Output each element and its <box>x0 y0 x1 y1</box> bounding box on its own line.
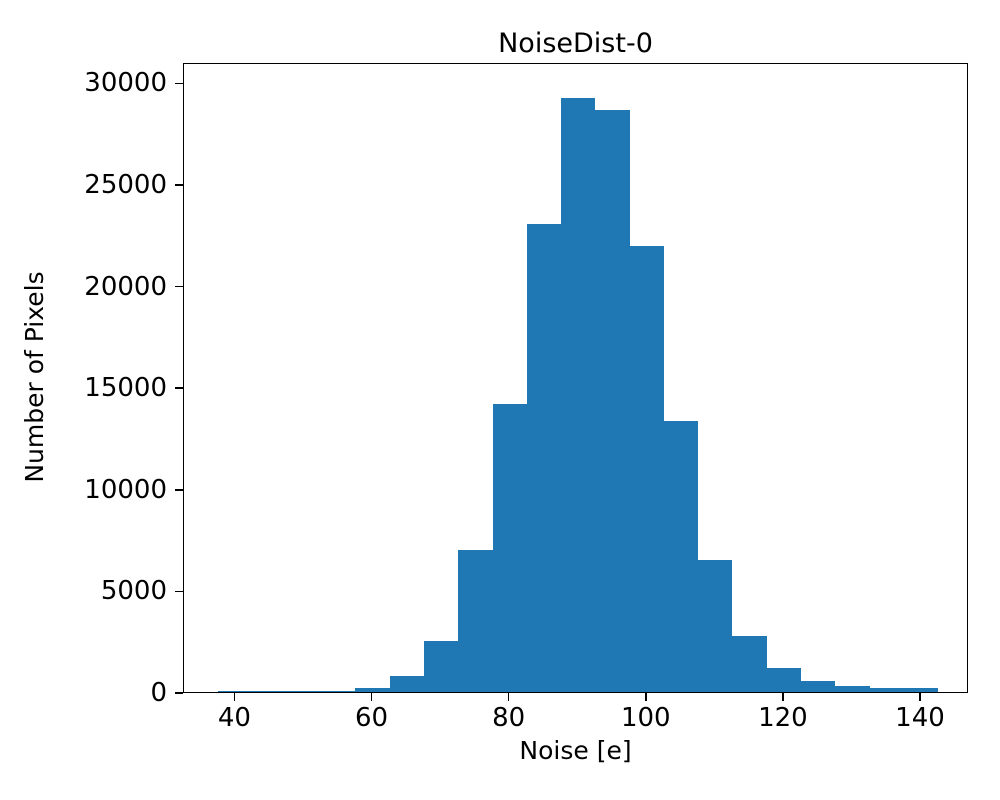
y-axis-label: Number of Pixels <box>21 212 49 542</box>
x-tick-label: 40 <box>218 705 251 731</box>
histogram-bar <box>458 550 492 692</box>
x-tick-label: 80 <box>492 705 525 731</box>
x-tick-mark <box>508 693 510 701</box>
histogram-bar <box>767 668 801 692</box>
y-tick-mark <box>175 692 183 694</box>
x-tick-mark <box>371 693 373 701</box>
y-tick-label: 5000 <box>0 578 167 604</box>
x-tick-mark <box>645 693 647 701</box>
x-tick-label: 140 <box>895 705 945 731</box>
y-tick-mark <box>175 387 183 389</box>
histogram-bar <box>630 246 664 692</box>
x-tick-mark <box>234 693 236 701</box>
x-tick-label: 100 <box>621 705 671 731</box>
histogram-bar <box>698 560 732 692</box>
histogram-bars <box>184 64 967 692</box>
histogram-bar <box>321 691 355 692</box>
matplotlib-figure: NoiseDist-0 0500010000150002000025000300… <box>0 0 1000 800</box>
x-tick-label: 60 <box>355 705 388 731</box>
histogram-bar <box>493 404 527 692</box>
histogram-bar <box>870 688 904 692</box>
histogram-bar <box>390 676 424 692</box>
y-tick-mark <box>175 591 183 593</box>
y-tick-mark <box>175 184 183 186</box>
y-tick-label: 0 <box>0 680 167 706</box>
chart-title: NoiseDist-0 <box>183 28 968 60</box>
histogram-bar <box>595 110 629 692</box>
histogram-bar <box>664 421 698 692</box>
x-tick-mark <box>919 693 921 701</box>
y-tick-mark <box>175 286 183 288</box>
histogram-bar <box>732 636 766 692</box>
y-tick-mark <box>175 489 183 491</box>
x-tick-label: 120 <box>758 705 808 731</box>
histogram-bar <box>561 98 595 692</box>
y-tick-label: 30000 <box>0 70 167 96</box>
x-tick-mark <box>782 693 784 701</box>
histogram-bar <box>253 691 287 692</box>
plot-area <box>183 63 968 693</box>
y-tick-label: 25000 <box>0 172 167 198</box>
histogram-bar <box>218 691 252 692</box>
x-axis-label: Noise [e] <box>183 737 968 765</box>
y-tick-mark <box>175 83 183 85</box>
histogram-bar <box>801 681 835 692</box>
histogram-bar <box>527 224 561 692</box>
histogram-bar <box>424 641 458 692</box>
histogram-bar <box>355 688 389 692</box>
histogram-bar <box>287 691 321 692</box>
histogram-bar <box>835 686 869 692</box>
histogram-bar <box>904 688 938 692</box>
